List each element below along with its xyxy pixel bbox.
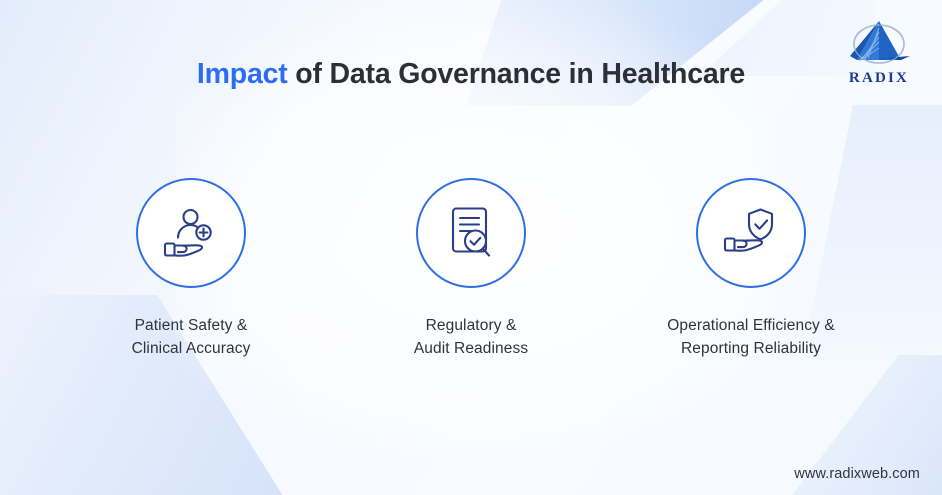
hand-holding-patient-plus-icon xyxy=(162,205,220,261)
page-title-accent: Impact xyxy=(197,58,288,90)
infographic-canvas: RADIX Impact of Data Governance in Healt… xyxy=(0,0,942,495)
feature-card: Operational Efficiency & Reporting Relia… xyxy=(620,178,882,361)
feature-card: Patient Safety & Clinical Accuracy xyxy=(60,178,322,361)
website-url: www.radixweb.com xyxy=(794,466,920,482)
feature-card-label: Patient Safety & Clinical Accuracy xyxy=(132,315,251,361)
hand-holding-shield-check-icon xyxy=(722,206,780,260)
feature-card: Regulatory & Audit Readiness xyxy=(340,178,602,361)
page-title-rest: of Data Governance in Healthcare xyxy=(288,58,745,90)
icon-circle xyxy=(696,178,806,288)
page-title: Impact of Data Governance in Healthcare xyxy=(0,58,942,91)
feature-card-label: Regulatory & Audit Readiness xyxy=(414,315,528,361)
icon-circle xyxy=(416,178,526,288)
feature-card-row: Patient Safety & Clinical Accuracy Regul… xyxy=(60,178,882,361)
feature-card-label: Operational Efficiency & Reporting Relia… xyxy=(667,315,835,361)
document-magnifier-check-icon xyxy=(445,205,497,261)
icon-circle xyxy=(136,178,246,288)
